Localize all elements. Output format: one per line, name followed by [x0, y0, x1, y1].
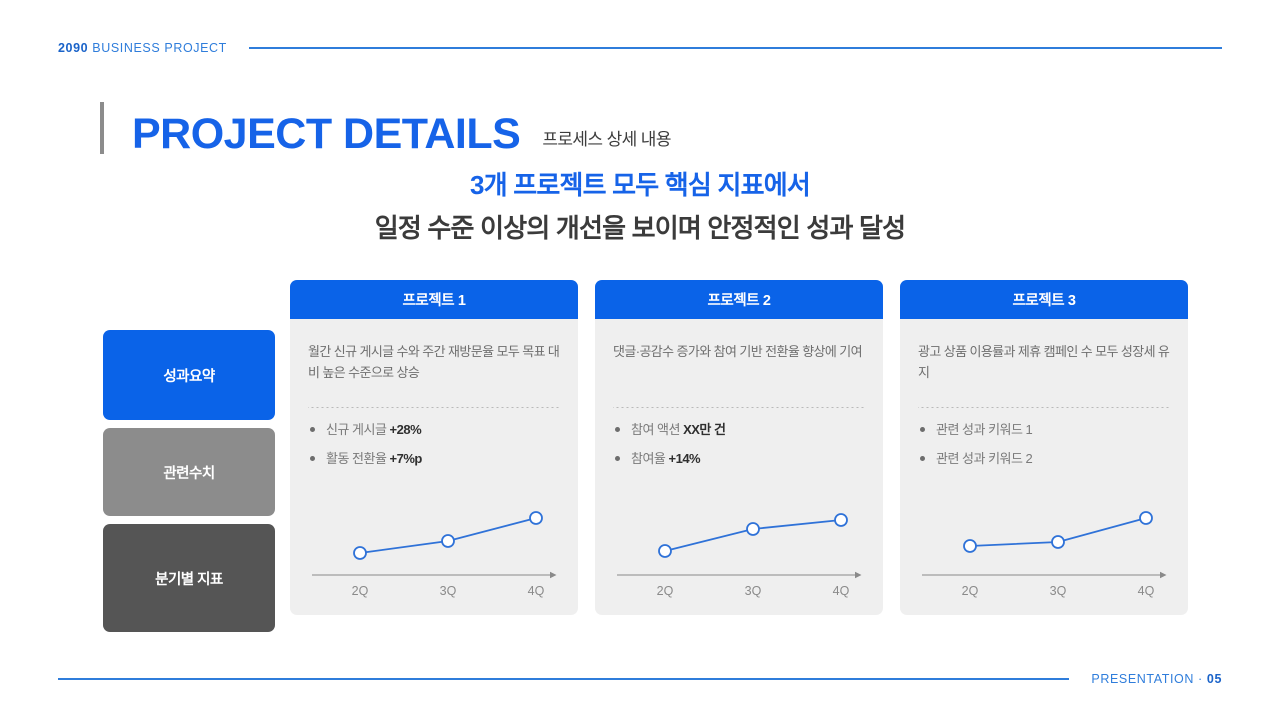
- bullet-value: +7%p: [390, 451, 422, 466]
- x-tick-label: 4Q: [833, 584, 850, 598]
- slide-footer: PRESENTATION · 05: [58, 670, 1222, 688]
- line-chart-svg: 2Q 3Q 4Q: [308, 485, 560, 603]
- card-title: 프로젝트 3: [1012, 289, 1075, 310]
- list-item: 참여율 +14%: [613, 451, 865, 467]
- sidebar-item-label: 성과요약: [163, 365, 214, 386]
- project-card-3[interactable]: 프로젝트 3 광고 상품 이용률과 제휴 캠페인 수 모두 성장세 유지 관련 …: [900, 280, 1188, 615]
- footer-text-label: PRESENTATION ·: [1091, 672, 1207, 686]
- trend-chart-2: 2Q 3Q 4Q: [613, 479, 865, 603]
- header-divider-line: [249, 47, 1222, 48]
- bullet-label: 참여율: [631, 451, 669, 466]
- project-cards-row: 프로젝트 1 월간 신규 게시글 수와 주간 재방문율 모두 목표 대비 높은 …: [290, 280, 1188, 615]
- list-item: 활동 전환율 +7%p: [308, 451, 560, 467]
- sidebar-item-summary[interactable]: 성과요약: [103, 330, 275, 420]
- category-sidebar: 성과요약 관련수치 분기별 지표: [103, 330, 275, 640]
- card-description: 광고 상품 이용률과 제휴 캠페인 수 모두 성장세 유지: [918, 341, 1170, 389]
- chart-point: [530, 512, 542, 524]
- sidebar-item-metrics[interactable]: 관련수치: [103, 428, 275, 516]
- card-bullet-list: 참여 액션 XX만 건 참여율 +14%: [613, 422, 865, 479]
- bullet-label: 신규 게시글: [326, 422, 390, 437]
- page-subtitle: 프로세스 상세 내용: [542, 125, 671, 150]
- card-body: 댓글·공감수 증가와 참여 기반 전환율 향상에 기여 참여 액션 XX만 건 …: [595, 319, 883, 615]
- project-card-1[interactable]: 프로젝트 1 월간 신규 게시글 수와 주간 재방문율 모두 목표 대비 높은 …: [290, 280, 578, 615]
- card-bullet-list: 관련 성과 키워드 1 관련 성과 키워드 2: [918, 422, 1170, 479]
- x-tick-label: 3Q: [745, 584, 762, 598]
- trend-chart-3: 2Q 3Q 4Q: [918, 479, 1170, 603]
- card-header: 프로젝트 2: [595, 280, 883, 319]
- page-number: 05: [1207, 672, 1222, 686]
- line-chart-svg: 2Q 3Q 4Q: [613, 485, 865, 603]
- bullet-label: 관련 성과 키워드 1: [936, 422, 1032, 437]
- title-block: PROJECT DETAILS 프로세스 상세 내용: [100, 100, 671, 154]
- card-description: 댓글·공감수 증가와 참여 기반 전환율 향상에 기여: [613, 341, 865, 389]
- bullet-value: XX만 건: [683, 422, 725, 437]
- headline-block: 3개 프로젝트 모두 핵심 지표에서 일정 수준 이상의 개선을 보이며 안정적…: [0, 168, 1280, 246]
- slide-header: 2090 BUSINESS PROJECT: [58, 38, 1222, 58]
- list-item: 신규 게시글 +28%: [308, 422, 560, 438]
- chart-point: [747, 523, 759, 535]
- x-tick-label: 2Q: [352, 584, 369, 598]
- card-body: 광고 상품 이용률과 제휴 캠페인 수 모두 성장세 유지 관련 성과 키워드 …: [900, 319, 1188, 615]
- card-divider: [308, 407, 560, 408]
- card-divider: [613, 407, 865, 408]
- bullet-label: 활동 전환율: [326, 451, 390, 466]
- card-body: 월간 신규 게시글 수와 주간 재방문율 모두 목표 대비 높은 수준으로 상승…: [290, 319, 578, 615]
- bullet-value: +14%: [669, 451, 701, 466]
- card-divider: [918, 407, 1170, 408]
- bullet-label: 관련 성과 키워드 2: [936, 451, 1032, 466]
- x-tick-label: 4Q: [528, 584, 545, 598]
- card-header: 프로젝트 1: [290, 280, 578, 319]
- list-item: 관련 성과 키워드 2: [918, 451, 1170, 467]
- x-tick-label: 2Q: [962, 584, 979, 598]
- card-title: 프로젝트 1: [402, 289, 465, 310]
- project-card-2[interactable]: 프로젝트 2 댓글·공감수 증가와 참여 기반 전환율 향상에 기여 참여 액션…: [595, 280, 883, 615]
- card-description: 월간 신규 게시글 수와 주간 재방문율 모두 목표 대비 높은 수준으로 상승: [308, 341, 560, 389]
- footer-label: PRESENTATION · 05: [1091, 672, 1222, 686]
- brand-number: 2090: [58, 41, 88, 55]
- page-title: PROJECT DETAILS: [132, 113, 520, 156]
- chart-point: [1052, 536, 1064, 548]
- trend-chart-1: 2Q 3Q 4Q: [308, 479, 560, 603]
- x-tick-label: 2Q: [657, 584, 674, 598]
- list-item: 관련 성과 키워드 1: [918, 422, 1170, 438]
- footer-divider-line: [58, 678, 1069, 679]
- chart-point: [835, 514, 847, 526]
- brand-label: 2090 BUSINESS PROJECT: [58, 41, 227, 55]
- x-tick-label: 4Q: [1138, 584, 1155, 598]
- chart-point: [659, 545, 671, 557]
- line-chart-svg: 2Q 3Q 4Q: [918, 485, 1170, 603]
- chart-point: [964, 540, 976, 552]
- card-header: 프로젝트 3: [900, 280, 1188, 319]
- x-tick-label: 3Q: [1050, 584, 1067, 598]
- bullet-label: 참여 액션: [631, 422, 683, 437]
- sidebar-item-label: 관련수치: [163, 462, 214, 483]
- chart-point: [442, 535, 454, 547]
- headline-line-2: 일정 수준 이상의 개선을 보이며 안정적인 성과 달성: [0, 211, 1280, 246]
- chart-point: [354, 547, 366, 559]
- title-accent-bar: [100, 102, 104, 154]
- x-tick-label: 3Q: [440, 584, 457, 598]
- list-item: 참여 액션 XX만 건: [613, 422, 865, 438]
- brand-name: BUSINESS PROJECT: [88, 41, 227, 55]
- card-title: 프로젝트 2: [707, 289, 770, 310]
- bullet-value: +28%: [390, 422, 422, 437]
- headline-line-1: 3개 프로젝트 모두 핵심 지표에서: [0, 168, 1280, 203]
- card-bullet-list: 신규 게시글 +28% 활동 전환율 +7%p: [308, 422, 560, 479]
- sidebar-item-quarterly[interactable]: 분기별 지표: [103, 524, 275, 632]
- sidebar-item-label: 분기별 지표: [155, 568, 223, 589]
- chart-point: [1140, 512, 1152, 524]
